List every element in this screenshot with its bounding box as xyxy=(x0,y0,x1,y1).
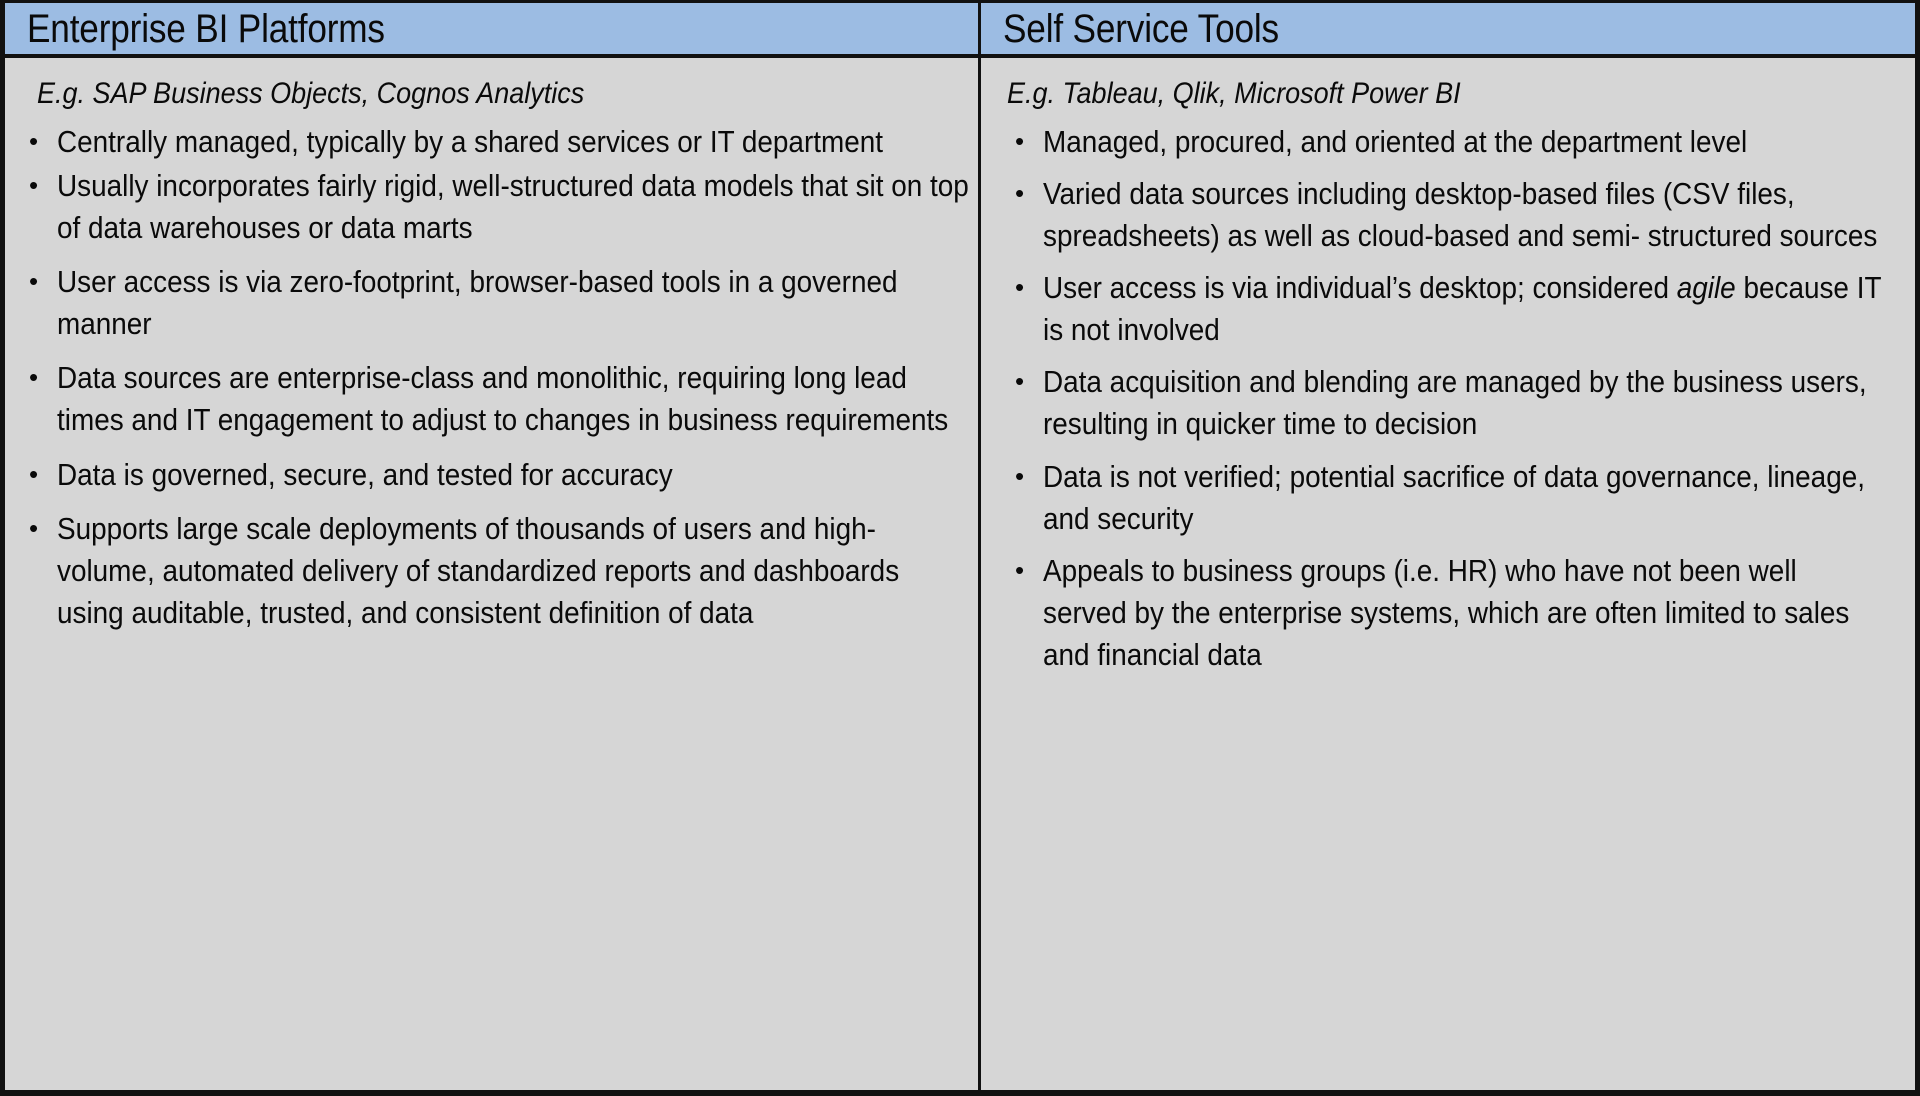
list-item-text: Appeals to business groups (i.e. HR) who… xyxy=(1043,550,1888,676)
emphasis-agile: agile xyxy=(1677,270,1736,305)
list-item: Usually incorporates fairly rigid, well-… xyxy=(15,165,970,249)
header-cell-enterprise-bi-platforms: Enterprise BI Platforms xyxy=(5,3,981,54)
list-item: Data acquisition and blending are manage… xyxy=(1003,361,1889,445)
list-item: Centrally managed, typically by a shared… xyxy=(15,121,970,163)
list-item-text-agile: User access is via individual’s desktop;… xyxy=(1043,267,1888,351)
header-cell-self-service-tools: Self Service Tools xyxy=(981,3,1915,54)
list-item-text: Data sources are enterprise-class and mo… xyxy=(57,357,969,441)
bullet-list-self-service-tools: Managed, procured, and oriented at the d… xyxy=(1003,121,1889,677)
list-item: User access is via zero-footprint, brows… xyxy=(15,261,970,345)
column-header-title-right: Self Service Tools xyxy=(1003,9,1279,49)
list-item-text: User access is via zero-footprint, brows… xyxy=(57,261,969,345)
list-item: Appeals to business groups (i.e. HR) who… xyxy=(1003,550,1889,676)
body-cell-enterprise-bi-platforms: E.g. SAP Business Objects, Cognos Analyt… xyxy=(5,58,981,1090)
list-item: User access is via individual’s desktop;… xyxy=(1003,267,1889,351)
list-item-text: Data is governed, secure, and tested for… xyxy=(57,454,969,496)
list-item-text: Managed, procured, and oriented at the d… xyxy=(1043,121,1888,163)
list-item: Data sources are enterprise-class and mo… xyxy=(15,357,970,441)
list-item: Supports large scale deployments of thou… xyxy=(15,508,970,634)
table-body-row: E.g. SAP Business Objects, Cognos Analyt… xyxy=(5,58,1915,1090)
list-item-text: Centrally managed, typically by a shared… xyxy=(57,121,969,163)
bi-comparison-table: Enterprise BI Platforms Self Service Too… xyxy=(0,0,1920,1096)
list-item: Managed, procured, and oriented at the d… xyxy=(1003,121,1889,163)
list-item-text: Usually incorporates fairly rigid, well-… xyxy=(57,165,969,249)
examples-line-right: E.g. Tableau, Qlik, Microsoft Power BI xyxy=(1007,74,1801,115)
table-header-row: Enterprise BI Platforms Self Service Too… xyxy=(5,3,1915,58)
list-item: Data is governed, secure, and tested for… xyxy=(15,454,970,496)
column-header-title-left: Enterprise BI Platforms xyxy=(27,9,385,49)
bullet-list-enterprise-bi-platforms: Centrally managed, typically by a shared… xyxy=(15,121,970,635)
list-item-text: Data is not verified; potential sacrific… xyxy=(1043,456,1888,540)
list-item: Data is not verified; potential sacrific… xyxy=(1003,456,1889,540)
list-item-text: Supports large scale deployments of thou… xyxy=(57,508,969,634)
body-cell-self-service-tools: E.g. Tableau, Qlik, Microsoft Power BI M… xyxy=(981,58,1915,1090)
examples-line-left: E.g. SAP Business Objects, Cognos Analyt… xyxy=(37,74,877,115)
list-item-text: Varied data sources including desktop-ba… xyxy=(1043,173,1888,257)
list-item: Varied data sources including desktop-ba… xyxy=(1003,173,1889,257)
list-item-text: Data acquisition and blending are manage… xyxy=(1043,361,1888,445)
